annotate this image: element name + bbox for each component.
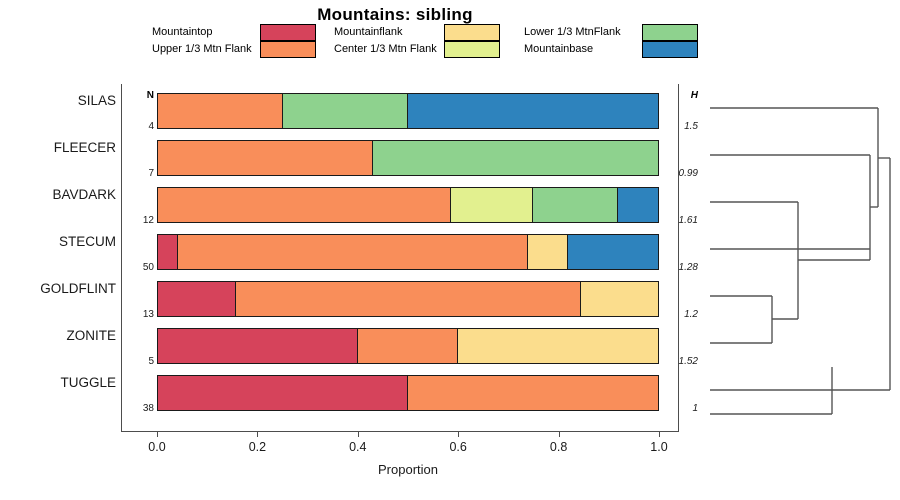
bar-segment-mountainflank bbox=[581, 282, 659, 316]
stacked-bar-goldflint[interactable] bbox=[157, 281, 659, 317]
axis-right-rule bbox=[678, 84, 679, 431]
n-value-tuggle: 38 bbox=[126, 403, 154, 415]
category-label-stecum: STECUM bbox=[6, 234, 116, 250]
n-value-fleecer: 7 bbox=[126, 168, 154, 180]
h-value-silas: 1.5 bbox=[664, 121, 698, 133]
bar-segment-lower-1-3-mtnflank bbox=[533, 188, 618, 222]
legend-label-lower-1-3-mtnflank: Lower 1/3 MtnFlank bbox=[524, 24, 621, 41]
bar-row bbox=[157, 375, 659, 411]
bar-row bbox=[157, 187, 659, 223]
chart-legend: MountaintopUpper 1/3 Mtn FlankMountainfl… bbox=[152, 24, 812, 58]
category-label-goldflint: GOLDFLINT bbox=[6, 281, 116, 297]
bar-row bbox=[157, 140, 659, 176]
h-value-zonite: 1.52 bbox=[664, 356, 698, 368]
stacked-bar-zonite[interactable] bbox=[157, 328, 659, 364]
axis-left-rule bbox=[121, 84, 122, 431]
bar-row bbox=[157, 234, 659, 270]
n-value-zonite: 5 bbox=[126, 356, 154, 368]
dendrogram bbox=[700, 84, 898, 431]
bar-segment-mountainflank bbox=[528, 235, 568, 269]
bar-row bbox=[157, 93, 659, 129]
h-column-header: H bbox=[664, 90, 698, 101]
page-title: Mountains: sibling bbox=[0, 5, 790, 25]
legend-swatch-mountainbase bbox=[642, 41, 698, 58]
stacked-bar-silas[interactable] bbox=[157, 93, 659, 129]
x-tick-mark bbox=[257, 431, 258, 437]
bar-segment-mountainbase bbox=[408, 94, 658, 128]
bar-segment-center-1-3-mtn-flank bbox=[451, 188, 534, 222]
x-tick-label-0-4: 0.4 bbox=[333, 440, 383, 454]
h-value-stecum: 1.28 bbox=[664, 262, 698, 274]
axis-bottom-rule bbox=[121, 431, 679, 432]
bar-segment-upper-1-3-mtn-flank bbox=[158, 141, 373, 175]
x-tick-label-0-0: 0.0 bbox=[132, 440, 182, 454]
bar-segment-mountaintop bbox=[158, 282, 236, 316]
bar-segment-upper-1-3-mtn-flank bbox=[408, 376, 658, 410]
bar-segment-upper-1-3-mtn-flank bbox=[158, 188, 451, 222]
bar-segment-mountainflank bbox=[458, 329, 658, 363]
x-tick-label-0-2: 0.2 bbox=[232, 440, 282, 454]
legend-label-mountainflank: Mountainflank bbox=[334, 24, 403, 41]
bar-segment-mountainbase bbox=[618, 188, 658, 222]
stacked-bar-fleecer[interactable] bbox=[157, 140, 659, 176]
legend-label-mountaintop: Mountaintop bbox=[152, 24, 213, 41]
dendrogram-svg bbox=[700, 84, 898, 431]
category-label-zonite: ZONITE bbox=[6, 328, 116, 344]
h-value-fleecer: 0.99 bbox=[664, 168, 698, 180]
bar-segment-upper-1-3-mtn-flank bbox=[236, 282, 581, 316]
x-tick-mark bbox=[559, 431, 560, 437]
category-label-tuggle: TUGGLE bbox=[6, 375, 116, 391]
bar-segment-mountainbase bbox=[568, 235, 658, 269]
stacked-bar-bavdark[interactable] bbox=[157, 187, 659, 223]
n-value-silas: 4 bbox=[126, 121, 154, 133]
h-value-tuggle: 1 bbox=[664, 403, 698, 415]
bar-segment-upper-1-3-mtn-flank bbox=[158, 94, 283, 128]
bar-row bbox=[157, 281, 659, 317]
legend-label-upper-1-3-mtn-flank: Upper 1/3 Mtn Flank bbox=[152, 41, 252, 58]
bar-segment-mountaintop bbox=[158, 329, 358, 363]
bar-segment-upper-1-3-mtn-flank bbox=[178, 235, 528, 269]
stacked-bar-stecum[interactable] bbox=[157, 234, 659, 270]
h-value-goldflint: 1.2 bbox=[664, 309, 698, 321]
legend-swatch-mountainflank bbox=[444, 24, 500, 41]
x-tick-label-0-8: 0.8 bbox=[534, 440, 584, 454]
category-label-bavdark: BAVDARK bbox=[6, 187, 116, 203]
x-tick-mark bbox=[157, 431, 158, 437]
n-column-header: N bbox=[126, 90, 154, 101]
legend-label-center-1-3-mtn-flank: Center 1/3 Mtn Flank bbox=[334, 41, 437, 58]
legend-swatch-mountaintop bbox=[260, 24, 316, 41]
x-tick-label-0-6: 0.6 bbox=[433, 440, 483, 454]
n-value-stecum: 50 bbox=[126, 262, 154, 274]
category-label-silas: SILAS bbox=[6, 93, 116, 109]
bar-row bbox=[157, 328, 659, 364]
x-axis-label: Proportion bbox=[157, 462, 659, 477]
h-value-bavdark: 1.61 bbox=[664, 215, 698, 227]
legend-label-mountainbase: Mountainbase bbox=[524, 41, 593, 58]
legend-swatch-lower-1-3-mtnflank bbox=[642, 24, 698, 41]
legend-swatch-center-1-3-mtn-flank bbox=[444, 41, 500, 58]
category-label-fleecer: FLEECER bbox=[6, 140, 116, 156]
legend-swatch-upper-1-3-mtn-flank bbox=[260, 41, 316, 58]
bar-segment-upper-1-3-mtn-flank bbox=[358, 329, 458, 363]
chart-canvas: Mountains: sibling MountaintopUpper 1/3 … bbox=[0, 0, 900, 500]
x-tick-mark bbox=[458, 431, 459, 437]
x-tick-mark bbox=[358, 431, 359, 437]
n-value-bavdark: 12 bbox=[126, 215, 154, 227]
bar-segment-mountaintop bbox=[158, 235, 178, 269]
x-tick-label-1-0: 1.0 bbox=[634, 440, 684, 454]
x-tick-mark bbox=[659, 431, 660, 437]
bar-segment-lower-1-3-mtnflank bbox=[373, 141, 658, 175]
bar-segment-mountaintop bbox=[158, 376, 408, 410]
n-value-goldflint: 13 bbox=[126, 309, 154, 321]
bar-segment-lower-1-3-mtnflank bbox=[283, 94, 408, 128]
stacked-bar-tuggle[interactable] bbox=[157, 375, 659, 411]
